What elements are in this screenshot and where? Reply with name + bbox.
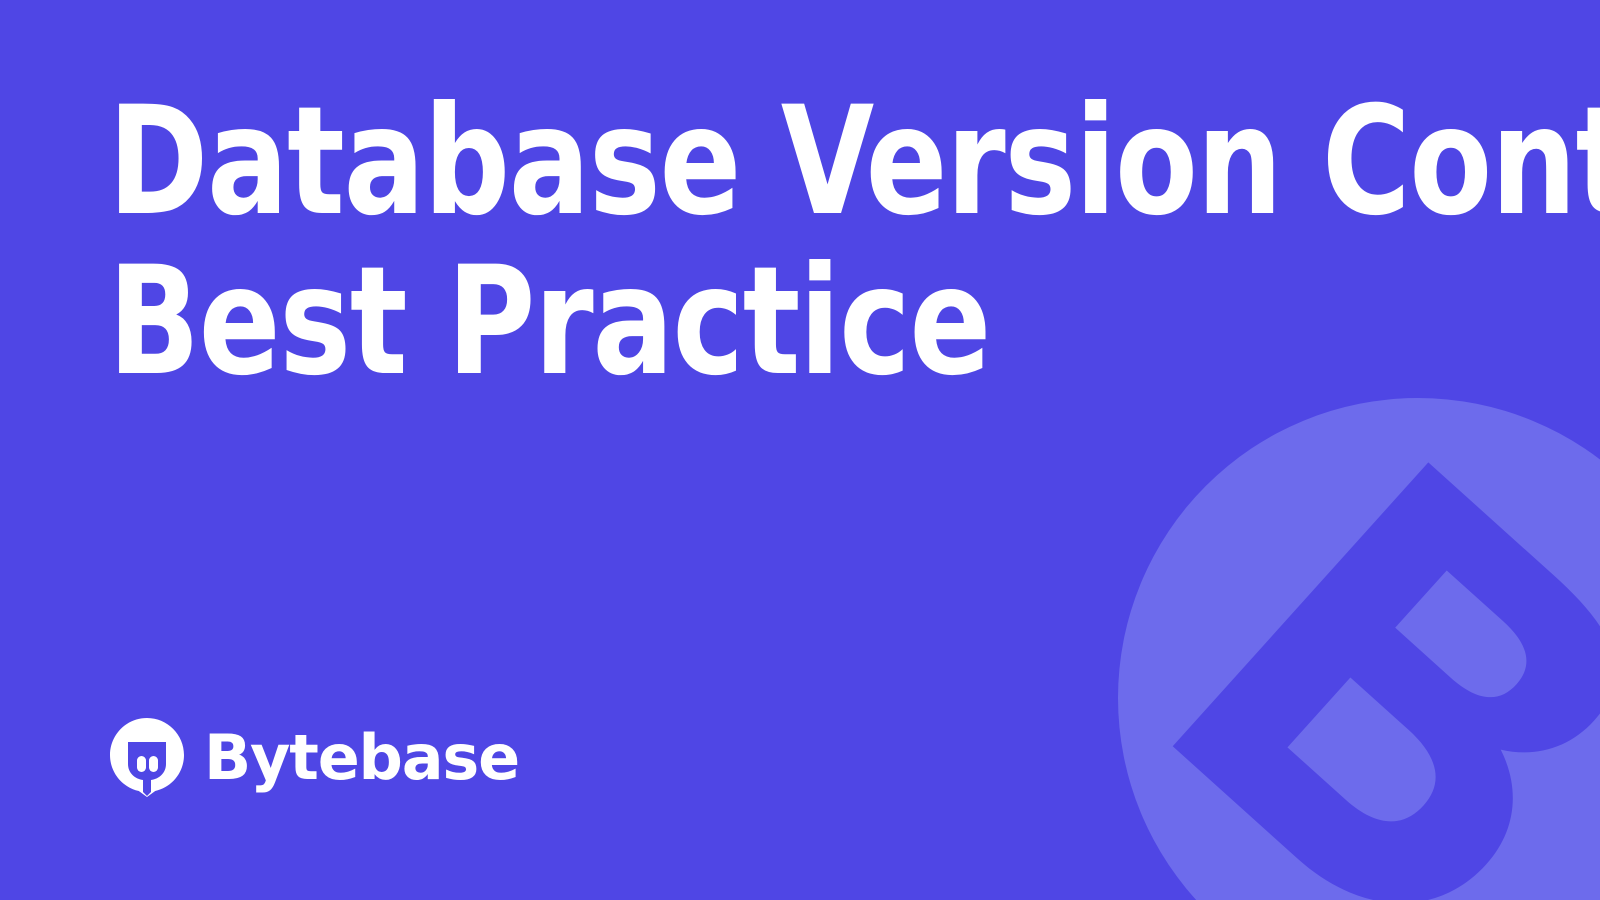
bytebase-logo-icon <box>108 716 186 798</box>
headline: Database Version Control Best Practice <box>108 82 1508 402</box>
headline-line-2: Best Practice <box>108 242 1361 402</box>
brand-wordmark: Bytebase <box>204 727 519 789</box>
brand-lockup: Bytebase <box>108 716 519 798</box>
social-card-banner: Database Version Control Best Practice B… <box>0 0 1600 900</box>
headline-line-1: Database Version Control <box>108 82 1361 242</box>
bytebase-watermark <box>1118 398 1600 900</box>
